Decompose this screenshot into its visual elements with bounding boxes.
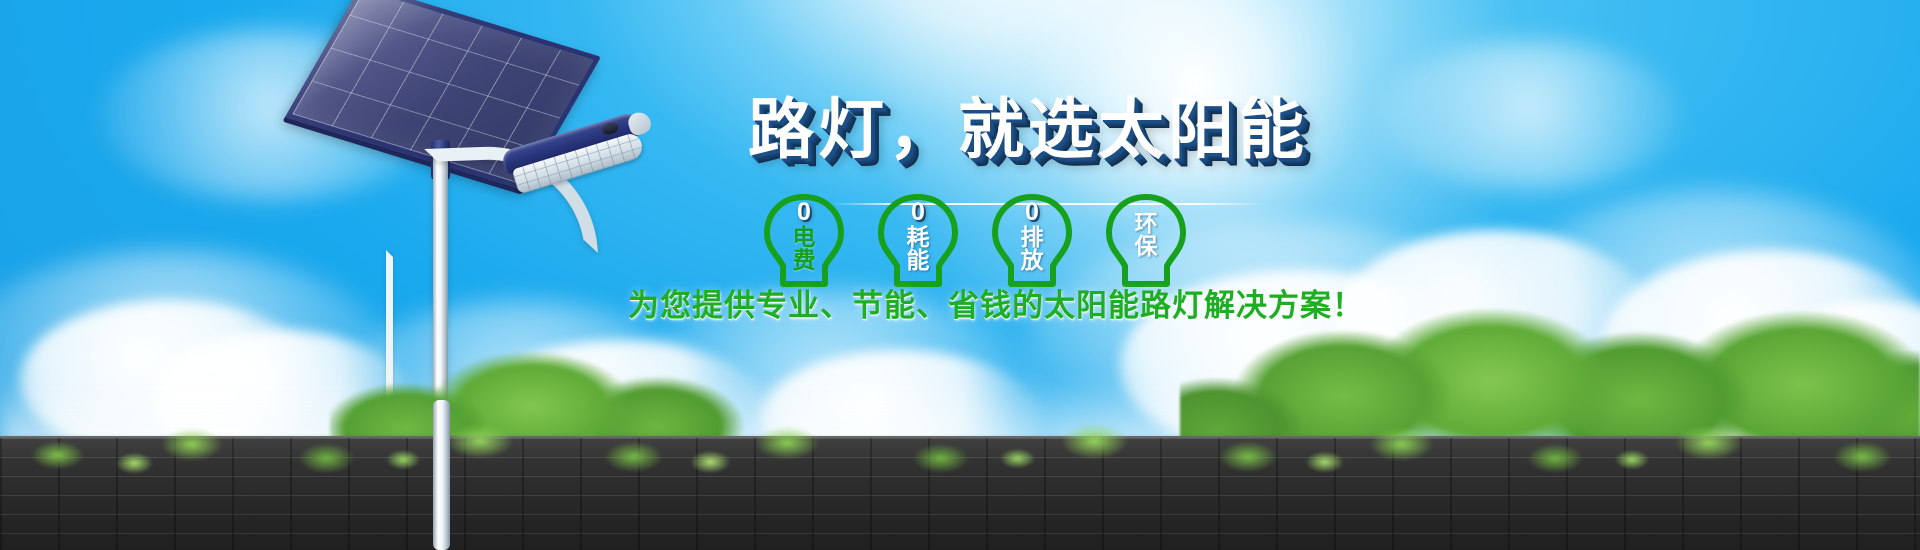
badge-label-bottom: 费 [793, 249, 816, 272]
page-title: 路灯，就选太阳能 [748, 96, 1308, 162]
badge-label-bottom: 保 [1135, 235, 1158, 258]
badge-label-top: 电 [793, 226, 816, 249]
badge-value: 0 [1025, 200, 1039, 226]
badge-value: 0 [797, 200, 811, 226]
badge-label-top: 环 [1135, 212, 1158, 235]
lamp-pole-base [433, 400, 450, 550]
badge-label-top: 排 [1021, 226, 1044, 249]
badge-value: 0 [911, 200, 925, 226]
badge-label-top: 耗 [907, 226, 930, 249]
feature-badge-energy-consumption[interactable]: 0 耗 能 [874, 192, 962, 290]
feature-badge-emissions[interactable]: 0 排 放 [988, 192, 1076, 290]
feature-badge-eco-friendly[interactable]: 环 保 [1102, 192, 1190, 290]
feature-badge-electricity-cost[interactable]: 0 电 费 [760, 192, 848, 290]
badge-label-bottom: 放 [1021, 249, 1044, 272]
solar-street-lamp-banner: 路灯，就选太阳能 0 电 费 0 耗 能 [0, 0, 1920, 550]
tiled-garden-wall [0, 438, 1920, 550]
feature-badge-list: 0 电 费 0 耗 能 0 排 放 [760, 192, 1230, 292]
badge-label-bottom: 能 [907, 249, 930, 272]
